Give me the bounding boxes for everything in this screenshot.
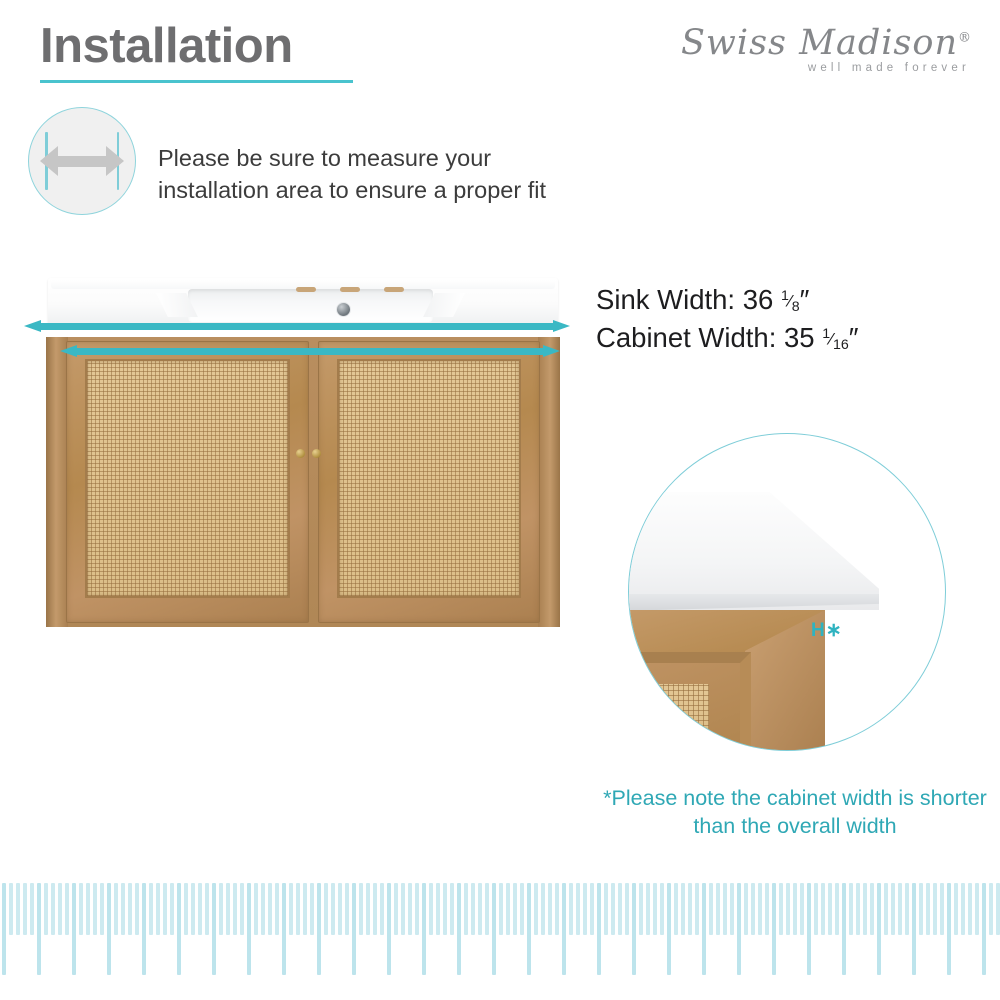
ruler-tick-minor — [611, 883, 615, 935]
ruler-tick-major — [737, 883, 741, 975]
ruler-tick-major — [282, 883, 286, 975]
ruler-tick-minor — [828, 883, 832, 935]
ruler-tick-minor — [170, 883, 174, 935]
ruler-tick-major — [842, 883, 846, 975]
ruler-tick-major — [702, 883, 706, 975]
drain-icon — [336, 302, 351, 317]
ruler-tick-minor — [408, 883, 412, 935]
ruler-tick-minor — [744, 883, 748, 935]
arrow-head-left-icon — [40, 146, 58, 176]
ruler-tick-minor — [996, 883, 1000, 935]
ruler-tick-minor — [786, 883, 790, 935]
ruler-tick-minor — [625, 883, 629, 935]
sink-width-arrow — [24, 320, 570, 332]
ruler-tick-minor — [891, 883, 895, 935]
ruler-tick-minor — [16, 883, 20, 935]
ruler-tick-minor — [793, 883, 797, 935]
ruler-tick-minor — [58, 883, 62, 935]
door-knob — [296, 449, 305, 458]
ruler-tick-minor — [751, 883, 755, 935]
ruler-tick-minor — [135, 883, 139, 935]
ruler-tick-minor — [198, 883, 202, 935]
ruler-tick-minor — [415, 883, 419, 935]
ruler-tick-minor — [359, 883, 363, 935]
ruler-tick-minor — [849, 883, 853, 935]
countertop — [48, 278, 558, 326]
faucet-hole — [384, 287, 404, 292]
ruler-tick-minor — [933, 883, 937, 935]
ruler-tick-minor — [954, 883, 958, 935]
ruler-tick-major — [877, 883, 881, 975]
ruler-tick-minor — [184, 883, 188, 935]
ruler-tick-major — [597, 883, 601, 975]
sink-basin — [188, 289, 433, 322]
ruler-tick-minor — [30, 883, 34, 935]
ruler-tick-minor — [534, 883, 538, 935]
ruler-tick-minor — [443, 883, 447, 935]
ruler-tick-minor — [800, 883, 804, 935]
ruler-tick-major — [212, 883, 216, 975]
cabinet-width-arrow — [60, 345, 560, 357]
door-knob — [312, 449, 321, 458]
ruler-tick-minor — [646, 883, 650, 935]
ruler-tick-minor — [863, 883, 867, 935]
ruler-tick-minor — [765, 883, 769, 935]
brand-name: Swiss Madison® — [672, 26, 972, 61]
ruler-tick-minor — [373, 883, 377, 935]
brand-logo: Swiss Madison® well made forever — [672, 26, 972, 88]
ruler-tick-minor — [471, 883, 475, 935]
brand-tagline: well made forever — [672, 62, 970, 74]
ruler-tick-minor — [723, 883, 727, 935]
ruler-tick-minor — [583, 883, 587, 935]
ruler-tick-minor — [9, 883, 13, 935]
cabinet-width-label: Cabinet Width: 35 1⁄16″ — [596, 319, 859, 357]
detail-rattan-panel — [628, 684, 709, 751]
ruler-tick-minor — [149, 883, 153, 935]
ruler-tick-minor — [541, 883, 545, 935]
ruler-tick-minor — [968, 883, 972, 935]
registered-mark-icon: ® — [958, 30, 972, 45]
ruler-tick-minor — [555, 883, 559, 935]
cabinet-width-fraction: 1⁄16 — [822, 325, 849, 356]
ruler-tick-major — [142, 883, 146, 975]
ruler-tick-minor — [191, 883, 195, 935]
ruler-tick-major — [772, 883, 776, 975]
detail-zoom-circle: H∗ — [628, 433, 946, 751]
cabinet-width-footnote: *Please note the cabinet width is shorte… — [600, 784, 990, 841]
ruler-tick-minor — [688, 883, 692, 935]
ruler-tick-minor — [65, 883, 69, 935]
ruler-tick-minor — [499, 883, 503, 935]
ruler-tick-minor — [331, 883, 335, 935]
dimension-labels: Sink Width: 36 1⁄8″ Cabinet Width: 35 1⁄… — [596, 281, 859, 356]
ruler-tick-minor — [394, 883, 398, 935]
ruler-tick-minor — [814, 883, 818, 935]
ruler-tick-minor — [590, 883, 594, 935]
ruler-tick-major — [632, 883, 636, 975]
ruler-tick-minor — [730, 883, 734, 935]
ruler-tick-minor — [653, 883, 657, 935]
arrow-shaft — [40, 323, 554, 330]
sink-width-fraction: 1⁄8 — [781, 287, 800, 318]
ruler-tick-minor — [485, 883, 489, 935]
ruler-tick-minor — [464, 883, 468, 935]
ruler-tick-minor — [905, 883, 909, 935]
ruler-tick-minor — [100, 883, 104, 935]
measure-width-icon — [28, 107, 136, 215]
rattan-panel — [85, 359, 290, 598]
ruler-tick-minor — [345, 883, 349, 935]
ruler-tick-minor — [79, 883, 83, 935]
ruler-tick-minor — [576, 883, 580, 935]
arrow-head-right-icon — [553, 320, 570, 332]
ruler-tick-minor — [926, 883, 930, 935]
ruler-tick-minor — [758, 883, 762, 935]
ruler-tick-minor — [429, 883, 433, 935]
ruler-tick-major — [912, 883, 916, 975]
ruler-tick-minor — [233, 883, 237, 935]
ruler-tick-minor — [86, 883, 90, 935]
ruler-tick-major — [2, 883, 6, 975]
ruler-tick-minor — [548, 883, 552, 935]
title-underline — [40, 80, 353, 83]
ruler-tick-minor — [639, 883, 643, 935]
ruler-tick-minor — [513, 883, 517, 935]
arrow-head-right-icon — [106, 146, 124, 176]
arrow-head-left-icon — [24, 320, 41, 332]
ruler-tick-minor — [289, 883, 293, 935]
ruler-tick-major — [37, 883, 41, 975]
faucet-hole — [296, 287, 316, 292]
cabinet-body — [46, 337, 560, 627]
ruler-tick-major — [247, 883, 251, 975]
page-title: Installation — [40, 22, 293, 71]
ruler-tick-minor — [156, 883, 160, 935]
ruler-tick-minor — [338, 883, 342, 935]
cabinet-side-left — [46, 337, 68, 627]
ruler-tick-minor — [296, 883, 300, 935]
ruler-tick-minor — [205, 883, 209, 935]
ruler-tick-minor — [261, 883, 265, 935]
ruler-tick-minor — [23, 883, 27, 935]
ruler-tick-minor — [870, 883, 874, 935]
rattan-panel — [337, 359, 521, 598]
ruler-tick-minor — [275, 883, 279, 935]
ruler-tick-minor — [709, 883, 713, 935]
ruler-tick-major — [807, 883, 811, 975]
ruler-tick-minor — [436, 883, 440, 935]
ruler-tick-minor — [121, 883, 125, 935]
arrow-head-right-icon — [543, 345, 560, 357]
detail-countertop — [628, 492, 879, 610]
ruler-tick-major — [492, 883, 496, 975]
ruler-tick-minor — [681, 883, 685, 935]
ruler-tick-minor — [975, 883, 979, 935]
ruler-tick-minor — [450, 883, 454, 935]
ruler-tick-major — [422, 883, 426, 975]
ruler-tick-minor — [128, 883, 132, 935]
ruler-tick-minor — [254, 883, 258, 935]
ruler-tick-minor — [506, 883, 510, 935]
ruler-tick-minor — [898, 883, 902, 935]
arrow-shaft — [76, 348, 544, 355]
ruler-tick-minor — [618, 883, 622, 935]
arrow-shaft — [51, 156, 113, 167]
ruler-tick-minor — [604, 883, 608, 935]
ruler-tick-minor — [51, 883, 55, 935]
ruler-tick-minor — [520, 883, 524, 935]
decorative-ruler — [0, 883, 1000, 983]
ruler-tick-minor — [268, 883, 272, 935]
ruler-tick-major — [667, 883, 671, 975]
ruler-tick-minor — [303, 883, 307, 935]
installation-guide-page: Installation Swiss Madison® well made fo… — [0, 0, 1000, 1000]
ruler-tick-minor — [93, 883, 97, 935]
ruler-tick-minor — [380, 883, 384, 935]
ruler-tick-minor — [310, 883, 314, 935]
ruler-tick-minor — [856, 883, 860, 935]
ruler-tick-minor — [989, 883, 993, 935]
ruler-tick-minor — [940, 883, 944, 935]
ruler-tick-major — [982, 883, 986, 975]
ruler-tick-minor — [324, 883, 328, 935]
vanity-illustration — [38, 278, 568, 630]
ruler-tick-minor — [240, 883, 244, 935]
ruler-tick-minor — [660, 883, 664, 935]
ruler-tick-minor — [366, 883, 370, 935]
ruler-tick-minor — [695, 883, 699, 935]
ruler-tick-minor — [919, 883, 923, 935]
ruler-tick-minor — [226, 883, 230, 935]
ruler-tick-minor — [44, 883, 48, 935]
ruler-tick-minor — [401, 883, 405, 935]
ruler-tick-minor — [716, 883, 720, 935]
ruler-tick-minor — [114, 883, 118, 935]
ruler-tick-minor — [569, 883, 573, 935]
ruler-tick-minor — [163, 883, 167, 935]
ruler-tick-minor — [884, 883, 888, 935]
ruler-tick-minor — [821, 883, 825, 935]
overhang-marker: H∗ — [811, 619, 843, 642]
sink-width-label: Sink Width: 36 1⁄8″ — [596, 281, 859, 319]
measure-instruction-text: Please be sure to measure your installat… — [158, 142, 598, 206]
cabinet-side-right — [538, 337, 560, 627]
cabinet-door-left — [66, 341, 309, 623]
ruler-tick-minor — [835, 883, 839, 935]
ruler-tick-major — [352, 883, 356, 975]
ruler-tick-major — [527, 883, 531, 975]
ruler-tick-minor — [478, 883, 482, 935]
ruler-tick-major — [317, 883, 321, 975]
ruler-tick-major — [947, 883, 951, 975]
ruler-tick-minor — [961, 883, 965, 935]
ruler-tick-minor — [674, 883, 678, 935]
ruler-tick-major — [562, 883, 566, 975]
ruler-tick-minor — [779, 883, 783, 935]
faucet-hole — [340, 287, 360, 292]
ruler-tick-minor — [219, 883, 223, 935]
ruler-tick-major — [177, 883, 181, 975]
ruler-tick-major — [387, 883, 391, 975]
ruler-tick-major — [457, 883, 461, 975]
ruler-tick-major — [107, 883, 111, 975]
arrow-head-left-icon — [60, 345, 77, 357]
cabinet-door-right — [318, 341, 540, 623]
ruler-tick-major — [72, 883, 76, 975]
